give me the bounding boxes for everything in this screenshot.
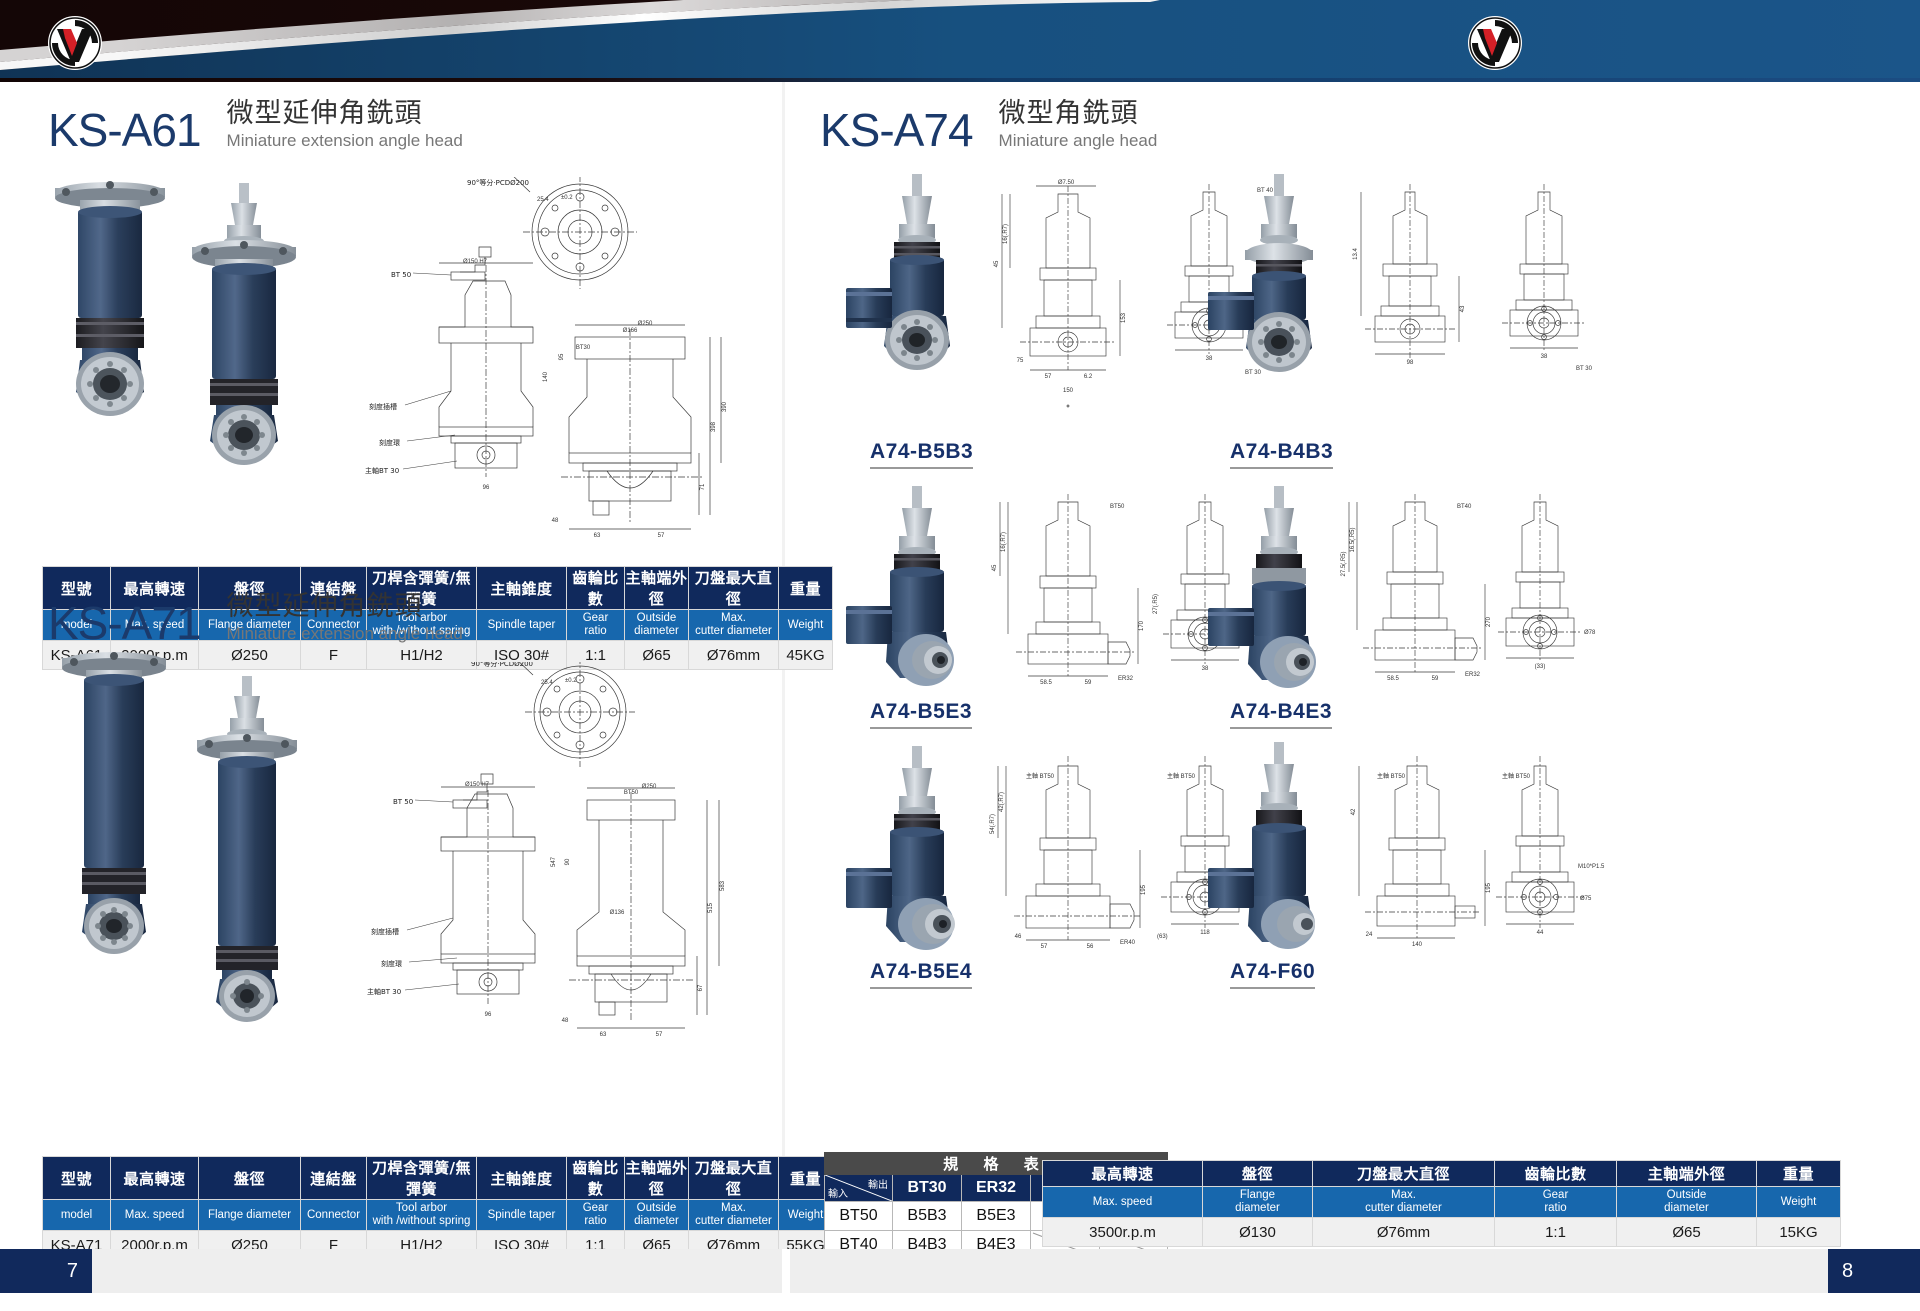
header-en-gear-ratio: Gear ratio <box>567 1200 625 1231</box>
svg-text:38: 38 <box>1541 354 1548 360</box>
svg-text:刻度插槽: 刻度插槽 <box>369 402 397 411</box>
header-cn-max-speed: 最高轉速 <box>1043 1161 1203 1187</box>
header-swoosh <box>0 0 1920 82</box>
svg-text:Ø166: Ø166 <box>623 328 638 334</box>
header-en-flange-dia: Flange diameter <box>199 1200 301 1231</box>
header-cn-gear-ratio: 齒輪比數 <box>567 1157 625 1200</box>
spec-table-ks-a74: 最高轉速 盤徑 刀盤最大直徑 齒輪比數 主軸端外徑 重量 Max. speed … <box>1042 1160 1841 1247</box>
product-title-ks-a74: KS-A74 微型角銑頭 Miniature angle head <box>820 99 1157 153</box>
svg-text:71: 71 <box>700 483 706 490</box>
header-cn-outside-dia: 主軸端外徑 <box>1617 1161 1757 1187</box>
cell-outside-dia: Ø65 <box>1617 1218 1757 1247</box>
header-en-cutter-dia: Max. cutter diameter <box>1313 1187 1495 1218</box>
svg-text:515: 515 <box>708 902 714 913</box>
header-en-max-speed: Max. speed <box>111 1200 199 1231</box>
cell-cutter-dia: Ø76mm <box>1313 1218 1495 1247</box>
technical-drawing-a74-b5e3: 16(.R7) 45 170 58.5 59 BT50 ER32 <box>980 484 1150 729</box>
header-en-spindle-taper: Spindle taper <box>477 610 567 641</box>
technical-drawing-ks-a61: Ø250 Ø150 H7 Ø166 BT30 390 398 71 63 57 … <box>355 177 755 562</box>
product-name-cn: 微型角銑頭 <box>999 99 1158 129</box>
header-en-tool-arbor: Tool arbor with /without spring <box>367 1200 477 1231</box>
company-logo-left <box>48 16 102 70</box>
technical-drawing-a74-b4b3-side: 38 BT 30 <box>1480 174 1610 429</box>
svg-text:24: 24 <box>1366 932 1373 938</box>
header-en-outside-dia: Outside diameter <box>625 1200 689 1231</box>
header-cn-spindle-taper: 主軸錐度 <box>477 567 567 610</box>
svg-text:Ø150 H7: Ø150 H7 <box>465 782 490 788</box>
matrix-corner-input: 輸入 <box>828 1185 848 1200</box>
header-en-outside-dia: Outside diameter <box>625 610 689 641</box>
footer-bar-left <box>92 1249 782 1293</box>
svg-text:43: 43 <box>1460 305 1466 312</box>
cell-weight: 15KG <box>1757 1218 1841 1247</box>
svg-text:25.4: 25.4 <box>541 680 553 686</box>
model-label-a74-f60: A74-F60 <box>1230 960 1315 989</box>
svg-text:BT 50: BT 50 <box>393 798 413 806</box>
svg-text:±0.2: ±0.2 <box>565 678 577 684</box>
svg-text:58.5: 58.5 <box>1040 680 1052 686</box>
svg-text:16(.R7): 16(.R7) <box>1003 224 1009 244</box>
svg-text:6.2: 6.2 <box>1084 374 1093 380</box>
svg-text:57: 57 <box>658 533 665 539</box>
svg-text:Ø250: Ø250 <box>638 321 653 327</box>
svg-text:刻度插槽: 刻度插槽 <box>371 927 399 936</box>
svg-text:Ø7.50: Ø7.50 <box>1058 180 1075 186</box>
svg-text:13.4: 13.4 <box>1353 248 1359 260</box>
page-footer: 7 8 <box>0 1249 1920 1311</box>
page-number-left: 7 <box>0 1249 92 1293</box>
svg-text:45: 45 <box>994 260 1000 267</box>
svg-text:90°等分‧PCDØ200: 90°等分‧PCDØ200 <box>467 178 529 187</box>
svg-text:BT50: BT50 <box>1110 504 1125 510</box>
product-title-ks-a61: KS-A61 微型延伸角銑頭 Miniature extension angle… <box>48 99 463 153</box>
svg-text:583: 583 <box>720 880 726 891</box>
product-code: KS-A71 <box>48 600 201 646</box>
svg-text:54(.R7): 54(.R7) <box>990 814 996 834</box>
svg-text:Ø75: Ø75 <box>1580 896 1592 902</box>
technical-drawing-ks-a71: Ø250 Ø150 H7 BT50 Ø136 583 515 67 63 57 … <box>355 662 755 1047</box>
svg-text:16.5(.R5): 16.5(.R5) <box>1350 527 1356 552</box>
model-label-a74-b5b3: A74-B5B3 <box>870 440 973 469</box>
matrix-corner-output: 輸出 <box>868 1176 888 1191</box>
svg-text:25.4: 25.4 <box>537 197 549 203</box>
cell-max-speed: 3500r.p.m <box>1043 1218 1203 1247</box>
svg-text:BT40: BT40 <box>1457 504 1472 510</box>
svg-text:ER40: ER40 <box>1120 940 1136 946</box>
header-cn-cutter-dia: 刀盤最大直徑 <box>689 567 779 610</box>
header-en-cutter-dia: Max. cutter diameter <box>689 1200 779 1231</box>
header-cn-weight: 重量 <box>1757 1161 1841 1187</box>
svg-text:Ø136: Ø136 <box>610 910 625 916</box>
svg-text:M10*P1.5: M10*P1.5 <box>1578 864 1605 870</box>
technical-drawing-a74-b4e3-side: (33) Ø78 <box>1480 484 1610 729</box>
svg-text:主軸BT 30: 主軸BT 30 <box>367 987 401 996</box>
svg-text:48: 48 <box>552 518 559 524</box>
svg-text:46: 46 <box>1015 934 1022 940</box>
svg-text:140: 140 <box>543 371 549 382</box>
header-en-connector: Connector <box>301 1200 367 1231</box>
header-en-weight: Weight <box>1757 1187 1841 1218</box>
product-name-en: Miniature extension angle head <box>227 623 463 644</box>
svg-text:BT30: BT30 <box>576 345 591 351</box>
header-cn-outside-dia: 主軸端外徑 <box>625 567 689 610</box>
header-cn-model: 型號 <box>43 1157 111 1200</box>
matrix-row-label-bt50: BT50 <box>825 1202 893 1231</box>
header-cn-outside-dia: 主軸端外徑 <box>625 1157 689 1200</box>
svg-text:90°等分‧PCDØ200: 90°等分‧PCDØ200 <box>471 662 533 668</box>
svg-text:98: 98 <box>1407 360 1414 366</box>
svg-text:96: 96 <box>483 485 490 491</box>
product-photo-ks-a61-a <box>40 152 180 442</box>
svg-text:(33): (33) <box>1535 664 1546 670</box>
svg-text:42: 42 <box>1351 808 1357 815</box>
svg-text:67: 67 <box>698 984 704 991</box>
svg-text:16(.R7): 16(.R7) <box>1001 532 1007 552</box>
svg-text:153: 153 <box>1121 312 1127 323</box>
table-header-row-cn: 型號 最高轉速 盤徑 連結盤 刀桿含彈簧/無彈簧 主軸錐度 齒輪比數 主軸端外徑… <box>43 1157 833 1200</box>
header-cn-flange-dia: 盤徑 <box>1203 1161 1313 1187</box>
svg-text:75: 75 <box>1017 358 1024 364</box>
model-label-a74-b5e3: A74-B5E3 <box>870 700 972 729</box>
product-code: KS-A61 <box>48 107 201 153</box>
table-row: 3500r.p.m Ø130 Ø76mm 1:1 Ø65 15KG <box>1043 1218 1841 1247</box>
table-header-row-en: model Max. speed Flange diameter Connect… <box>43 1200 833 1231</box>
svg-text:Ø250: Ø250 <box>642 784 657 790</box>
svg-text:主軸 BT50: 主軸 BT50 <box>1502 772 1531 780</box>
cell-gear-ratio: 1:1 <box>1495 1218 1617 1247</box>
header-en-cutter-dia: Max. cutter diameter <box>689 610 779 641</box>
svg-text:Ø150 H7: Ø150 H7 <box>463 259 488 265</box>
header-cn-cutter-dia: 刀盤最大直徑 <box>1313 1161 1495 1187</box>
product-name-cn: 微型延伸角銑頭 <box>227 99 463 129</box>
svg-text:BT50: BT50 <box>624 790 639 796</box>
svg-text:Ø78: Ø78 <box>1584 630 1596 636</box>
technical-drawing-a74-f60-side: 44 Ø75 M10*P1.5 主軸 BT50 <box>1480 742 1610 987</box>
catalog-page-right: KS-A74 微型角銑頭 Miniature angle head <box>790 82 1920 1249</box>
header-en-flange-dia: Flange diameter <box>1203 1187 1313 1218</box>
product-code: KS-A74 <box>820 107 973 153</box>
svg-text:57: 57 <box>656 1032 663 1038</box>
svg-text:刻度環: 刻度環 <box>379 438 400 447</box>
technical-drawing-a74-b5b3: Ø7.50 16(.R7) 45 153 57 6.2 150 75 <box>980 174 1150 429</box>
header-en-gear-ratio: Gear ratio <box>1495 1187 1617 1218</box>
header-cn-gear-ratio: 齒輪比數 <box>1495 1161 1617 1187</box>
svg-text:57: 57 <box>1041 944 1048 950</box>
product-name-cn: 微型延伸角銑頭 <box>227 592 463 622</box>
product-title-ks-a71: KS-A71 微型延伸角銑頭 Miniature extension angle… <box>48 592 463 646</box>
header-cn-tool-arbor: 刀桿含彈簧/無彈簧 <box>367 1157 477 1200</box>
svg-text:主軸BT 30: 主軸BT 30 <box>365 466 399 475</box>
header-cn-flange-dia: 盤徑 <box>199 1157 301 1200</box>
svg-text:59: 59 <box>1085 680 1092 686</box>
matrix-cell-b5e3: B5E3 <box>962 1202 1031 1231</box>
matrix-corner-cell: 輸出 輸入 <box>825 1175 893 1202</box>
svg-text:56: 56 <box>1087 944 1094 950</box>
table-header-row-en: Max. speed Flange diameter Max. cutter d… <box>1043 1187 1841 1218</box>
svg-text:27(.R5): 27(.R5) <box>1153 594 1159 614</box>
product-name-en: Miniature extension angle head <box>227 130 463 151</box>
svg-text:ER32: ER32 <box>1465 672 1481 678</box>
svg-text:ER32: ER32 <box>1118 676 1134 682</box>
product-photo-ks-a71-b <box>168 672 328 1022</box>
svg-text:63: 63 <box>594 533 601 539</box>
cell-flange-dia: Ø130 <box>1203 1218 1313 1247</box>
model-label-a74-b4b3: A74-B4B3 <box>1230 440 1333 469</box>
table-header-row-cn: 最高轉速 盤徑 刀盤最大直徑 齒輪比數 主軸端外徑 重量 <box>1043 1161 1841 1187</box>
svg-text:150: 150 <box>1063 388 1074 394</box>
svg-text:44: 44 <box>1537 930 1544 936</box>
svg-text:BT 30: BT 30 <box>1576 366 1593 372</box>
svg-text:59: 59 <box>1432 676 1439 682</box>
header-cn-max-speed: 最高轉速 <box>111 1157 199 1200</box>
svg-text:63: 63 <box>600 1032 607 1038</box>
svg-text:主軸 BT50: 主軸 BT50 <box>1026 772 1055 780</box>
company-logo-right <box>1468 16 1522 70</box>
svg-text:(63): (63) <box>1157 934 1168 940</box>
svg-text:398: 398 <box>711 421 717 432</box>
svg-text:96: 96 <box>485 1012 492 1018</box>
product-photo-ks-a61-b <box>165 177 325 467</box>
technical-drawing-a74-b5e4: 42(.R7) 54(.R7) 195 57 56 主軸 BT50 ER40 4… <box>980 742 1150 987</box>
product-photo-a74-b5b3 <box>828 168 998 433</box>
svg-text:42(.R7): 42(.R7) <box>999 792 1005 812</box>
svg-text:主軸 BT50: 主軸 BT50 <box>1377 772 1406 780</box>
svg-text:45: 45 <box>992 564 998 571</box>
model-label-a74-b5e4: A74-B5E4 <box>870 960 972 989</box>
svg-text:90: 90 <box>565 858 571 865</box>
svg-text:27.5(.R5): 27.5(.R5) <box>1341 551 1347 576</box>
svg-text:547: 547 <box>551 856 557 867</box>
svg-text:58.5: 58.5 <box>1387 676 1399 682</box>
matrix-col-er32: ER32 <box>962 1175 1031 1202</box>
matrix-cell-b5b3: B5B3 <box>893 1202 962 1231</box>
svg-text:BT 50: BT 50 <box>391 271 411 279</box>
svg-text:140: 140 <box>1412 942 1423 948</box>
header-en-outside-dia: Outside diameter <box>1617 1187 1757 1218</box>
header-cn-connector: 連結盤 <box>301 1157 367 1200</box>
svg-text:95: 95 <box>559 353 565 360</box>
model-label-a74-b4e3: A74-B4E3 <box>1230 700 1332 729</box>
footer-bar-right <box>790 1249 1828 1293</box>
svg-text:390: 390 <box>722 401 728 412</box>
svg-text:57: 57 <box>1045 374 1052 380</box>
svg-text:48: 48 <box>562 1018 569 1024</box>
product-name-en: Miniature angle head <box>999 130 1158 151</box>
catalog-page-left: KS-A61 微型延伸角銑頭 Miniature extension angle… <box>0 82 780 1249</box>
header-cn-spindle-taper: 主軸錐度 <box>477 1157 567 1200</box>
header-en-gear-ratio: Gear ratio <box>567 610 625 641</box>
technical-drawing-a74-b4e3: 16.5(.R5) 27.5(.R5) 270 58.5 59 BT40 ER3… <box>1335 484 1495 729</box>
technical-drawing-a74-b4b3: 13.4 43 98 <box>1335 174 1485 429</box>
header-cn-cutter-dia: 刀盤最大直徑 <box>689 1157 779 1200</box>
matrix-col-bt30: BT30 <box>893 1175 962 1202</box>
page-number-right: 8 <box>1828 1249 1920 1293</box>
page-header <box>0 0 1920 82</box>
header-en-model: model <box>43 1200 111 1231</box>
svg-text:刻度環: 刻度環 <box>381 959 402 968</box>
header-cn-gear-ratio: 齒輪比數 <box>567 567 625 610</box>
spec-table-ks-a71: 型號 最高轉速 盤徑 連結盤 刀桿含彈簧/無彈簧 主軸錐度 齒輪比數 主軸端外徑… <box>42 1156 833 1260</box>
header-en-spindle-taper: Spindle taper <box>477 1200 567 1231</box>
technical-drawing-a74-f60: 42 195 140 主軸 BT50 24 <box>1335 742 1495 987</box>
header-en-max-speed: Max. speed <box>1043 1187 1203 1218</box>
svg-text:±0.2: ±0.2 <box>561 195 573 201</box>
